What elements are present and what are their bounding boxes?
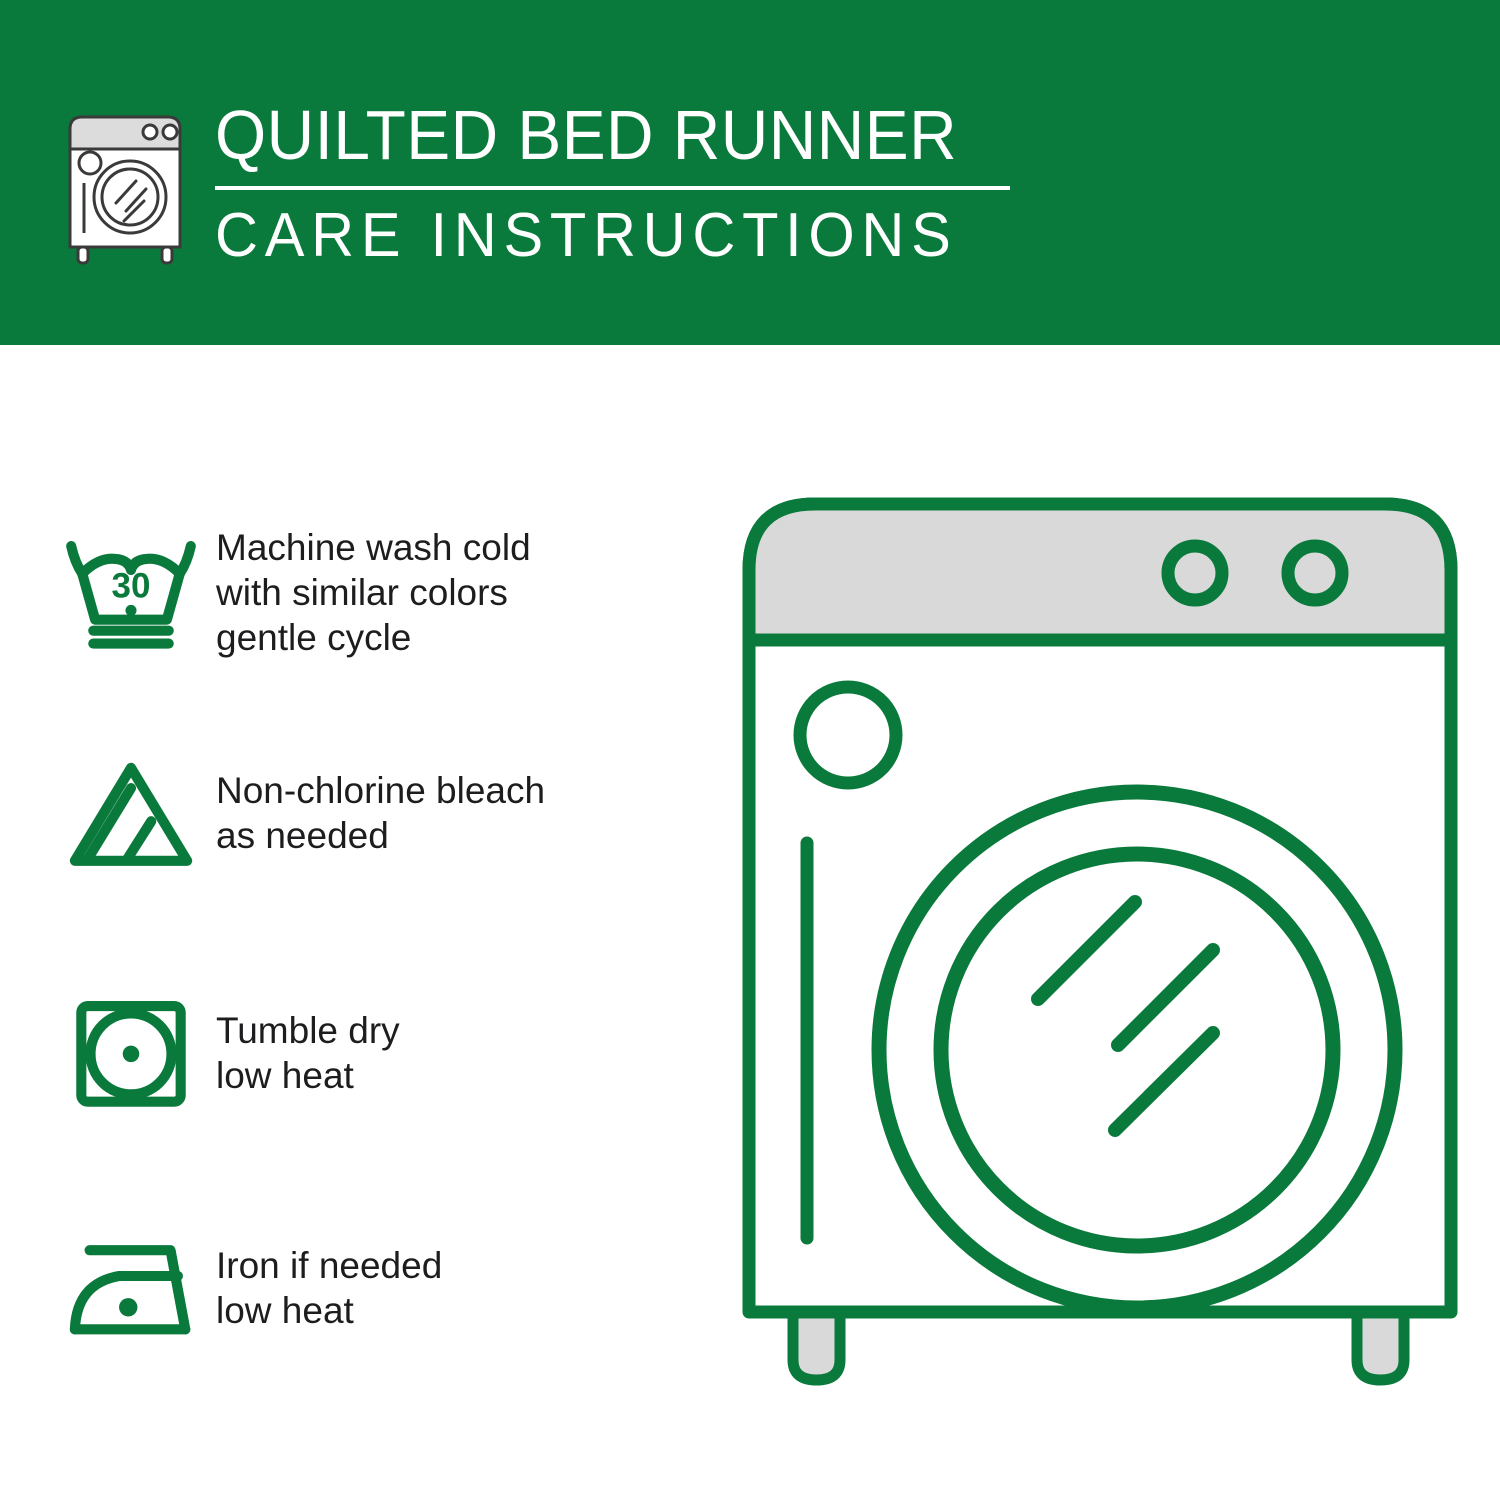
care-text-line: with similar colors	[216, 570, 531, 615]
wash-tub-30-gentle-icon: 30	[0, 510, 200, 675]
care-item-iron-label: Iron if needed low heat	[200, 1243, 442, 1333]
tumble-dry-low-icon	[0, 970, 200, 1135]
page-subtitle: CARE INSTRUCTIONS	[215, 202, 1079, 270]
header-text-block: QUILTED BED RUNNER CARE INSTRUCTIONS	[215, 96, 1115, 270]
care-item-bleach-label: Non-chlorine bleach as needed	[200, 768, 545, 858]
care-item-tumble-dry-label: Tumble dry low heat	[200, 1008, 400, 1098]
title-divider	[215, 186, 1010, 190]
care-text-line: Non-chlorine bleach	[216, 768, 545, 813]
care-instructions-page: QUILTED BED RUNNER CARE INSTRUCTIONS	[0, 0, 1500, 1500]
care-item-machine-wash: 30 Machine wash cold with similar colors…	[0, 510, 700, 675]
care-text-line: low heat	[216, 1053, 400, 1098]
care-instruction-list: 30 Machine wash cold with similar colors…	[0, 345, 700, 1500]
care-text-line: low heat	[216, 1288, 442, 1333]
washer-leg-left	[793, 1308, 840, 1380]
washer-dispenser-circle	[800, 687, 896, 783]
care-text-line: Tumble dry	[216, 1008, 400, 1053]
care-text-line: Iron if needed	[216, 1243, 442, 1288]
front-load-washing-machine-illustration	[735, 480, 1465, 1420]
care-text-line: gentle cycle	[216, 615, 531, 660]
care-item-bleach: Non-chlorine bleach as needed	[0, 730, 700, 895]
care-text-line: Machine wash cold	[216, 525, 531, 570]
non-chlorine-bleach-triangle-icon	[0, 730, 200, 895]
washing-machine-icon	[62, 105, 192, 265]
washer-leg-right	[1357, 1308, 1404, 1380]
care-item-machine-wash-label: Machine wash cold with similar colors ge…	[200, 525, 531, 660]
care-item-tumble-dry: Tumble dry low heat	[0, 970, 700, 1135]
washer-knob-right	[1288, 546, 1342, 600]
washer-drum-inner	[941, 854, 1333, 1246]
iron-low-heat-icon	[0, 1205, 200, 1370]
header-banner: QUILTED BED RUNNER CARE INSTRUCTIONS	[0, 0, 1500, 345]
care-text-line: as needed	[216, 813, 545, 858]
washer-knob-left	[1168, 546, 1222, 600]
wash-temperature-value: 30	[112, 567, 151, 606]
page-title: QUILTED BED RUNNER	[215, 96, 1061, 174]
care-item-iron: Iron if needed low heat	[0, 1205, 700, 1370]
